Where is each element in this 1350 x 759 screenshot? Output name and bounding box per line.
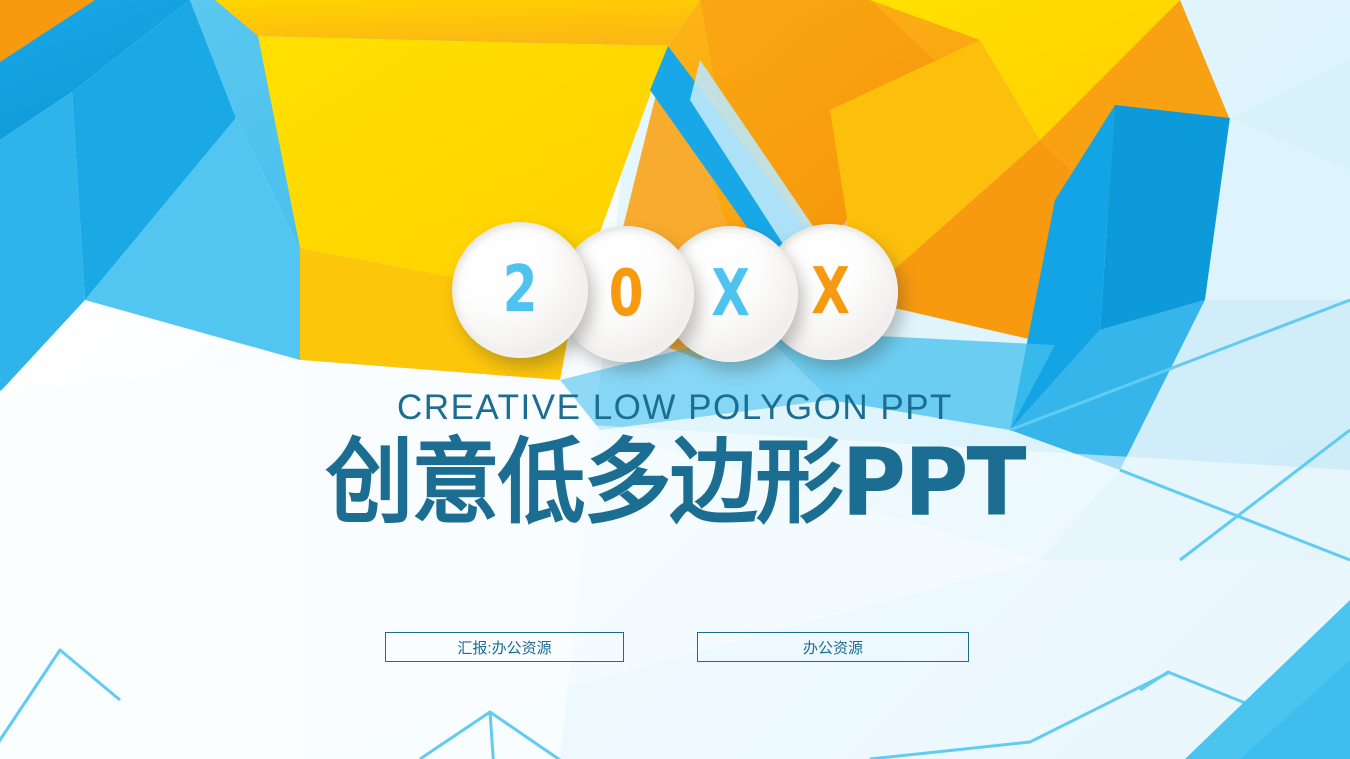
- presentation-title-slide: 2 0 X X CREATIVE LOW POLYGON PPT 创意低多边形P…: [0, 0, 1350, 759]
- page-title: 创意低多边形PPT: [0, 432, 1350, 535]
- year-char-4: X: [811, 260, 849, 324]
- presenter-tag[interactable]: 汇报:办公资源: [385, 632, 624, 662]
- footer-tag-row: 汇报:办公资源 办公资源: [0, 632, 1350, 664]
- subtitle-english: CREATIVE LOW POLYGON PPT: [0, 388, 1350, 428]
- year-char-2: 0: [609, 262, 643, 326]
- year-char-1: 2: [503, 258, 537, 322]
- organization-tag[interactable]: 办公资源: [697, 632, 969, 662]
- year-char-3: X: [711, 262, 749, 326]
- year-circle-1[interactable]: 2: [452, 222, 588, 358]
